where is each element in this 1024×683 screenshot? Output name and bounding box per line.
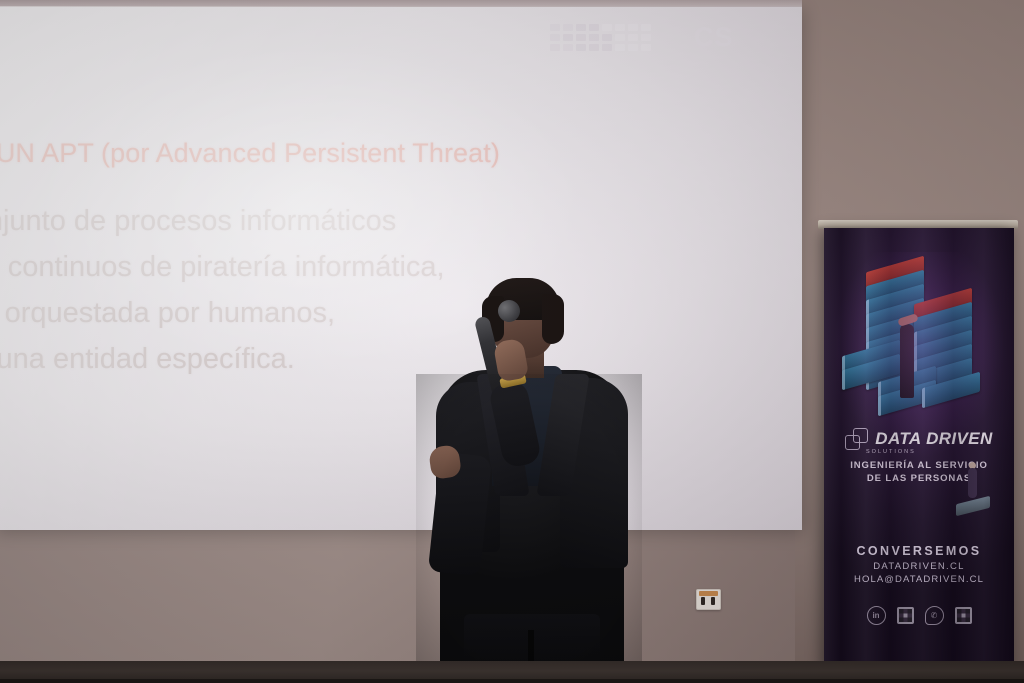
outlet-socket-hole-left [701,597,705,605]
slide-body-text: n conjunto de procesos informáticos sos … [0,198,445,382]
data-driven-logo-icon [845,428,869,450]
slide-corner-logo-icon [550,24,651,54]
banner-brand-name: DATA DRIVEN [875,429,992,449]
banner-person-graphic [952,462,1000,520]
slide-body-line-2: sos y continuos de piratería informática… [0,244,445,290]
banner-email: HOLA@DATADRIVEN.CL [832,574,1006,585]
banner-brand-sub: SOLUTIONS [866,449,1006,455]
banner-icon-row: in ✆ [832,606,1006,625]
linkedin-icon: in [867,606,886,625]
qr-code-icon-left [897,607,914,624]
qr-code-icon-right [955,607,972,624]
presentation-photo-scene: CS ES UN APT (por Advanced Persistent Th… [0,0,1024,683]
speaker-figure [404,278,654,683]
slide-body-line-1: n conjunto de procesos informáticos [0,198,445,244]
isometric-server-illustration [838,262,1000,452]
banner-brand-block: DATA DRIVEN SOLUTIONS INGENIERÍA AL SERV… [832,428,1006,485]
banner-contact-block: CONVERSEMOS DATADRIVEN.CL HOLA@DATADRIVE… [832,544,1006,585]
slide-body-line-4: do a una entidad específica. [0,336,445,382]
banner-figure-silhouette [900,324,914,398]
whatsapp-icon: ✆ [925,606,944,625]
banner-contact-heading: CONVERSEMOS [832,544,1006,558]
banner-website: DATADRIVEN.CL [832,561,1006,572]
wall-power-outlet [696,589,721,610]
outlet-socket-hole-right [711,597,715,605]
slide-body-line-3: nudo orquestada por humanos, [0,290,445,336]
outlet-faceplate-strip [699,591,718,596]
speaker-hair-side-right [542,294,564,344]
floor-strip [0,679,1024,683]
slide-logo-wordmark: CS [694,22,734,53]
slide-heading: ES UN APT (por Advanced Persistent Threa… [0,138,500,169]
rollup-banner: DATA DRIVEN SOLUTIONS INGENIERÍA AL SERV… [824,228,1014,670]
projected-slide: CS ES UN APT (por Advanced Persistent Th… [0,6,802,530]
